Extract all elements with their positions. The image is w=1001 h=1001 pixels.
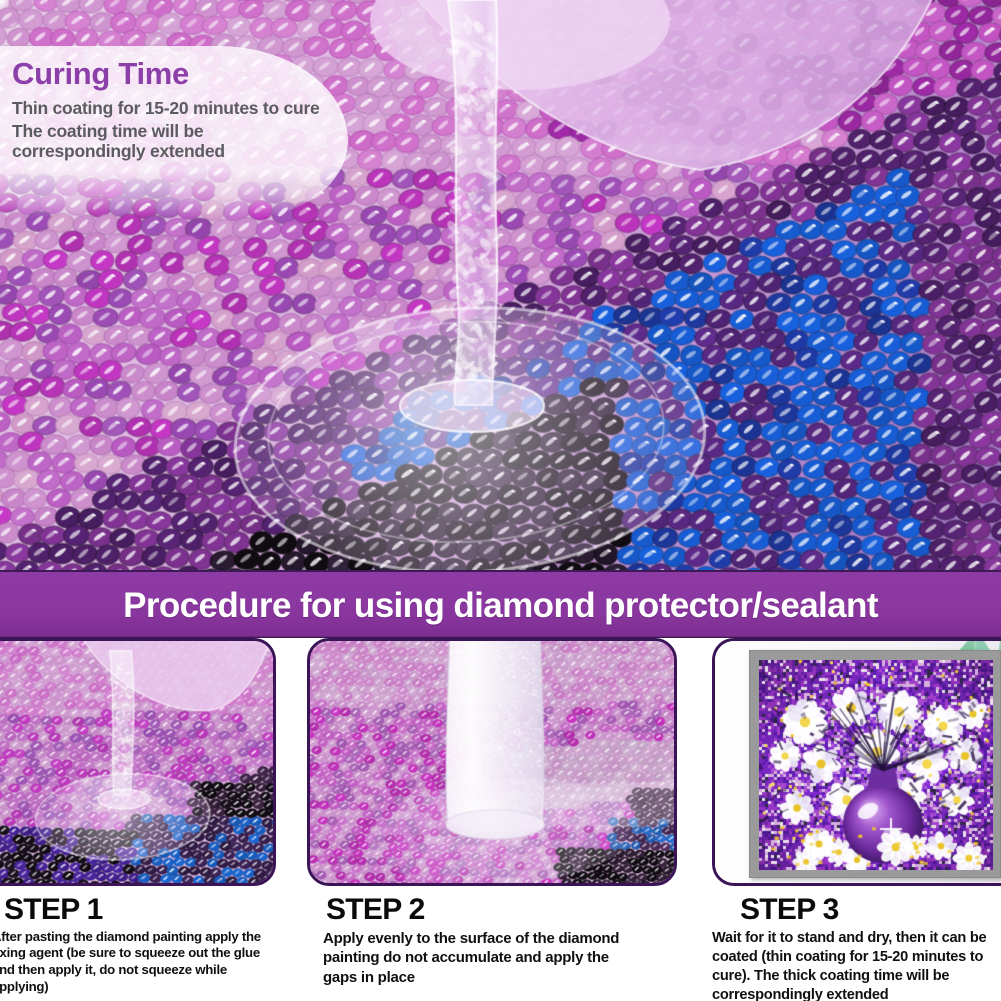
section-banner: Procedure for using diamond protector/se… [0,570,1001,638]
step-2-caption: STEP 2 Apply evenly to the surface of th… [307,886,677,987]
curing-time-content: Curing Time Thin coating for 15-20 minut… [12,58,342,161]
step-3-caption: STEP 3 Wait for it to stand and dry, the… [712,886,1001,1001]
curing-time-line-2: The coating time will be correspondingly… [12,122,327,161]
step-1-photo [0,638,276,886]
curing-time-line-1: Thin coating for 15-20 minutes to cure [12,99,327,119]
step-card-3: STEP 3 Wait for it to stand and dry, the… [712,638,1001,1001]
steps-row: STEP 1 After pasting the diamond paintin… [0,638,1001,1001]
step-1-body: After pasting the diamond painting apply… [0,929,274,997]
step-3-photo [712,638,1001,886]
step-2-body: Apply evenly to the surface of the diamo… [323,929,629,988]
framed-painting-artwork [759,660,993,870]
step-2-label: STEP 2 [326,894,667,926]
step-3-body: Wait for it to stand and dry, then it ca… [712,929,1001,1001]
step-1-caption: STEP 1 After pasting the diamond paintin… [0,886,276,996]
step-card-1: STEP 1 After pasting the diamond paintin… [0,638,276,1001]
banner-title: Procedure for using diamond protector/se… [123,588,878,623]
step-1-image [0,641,273,883]
infographic-page: Curing Time Thin coating for 15-20 minut… [0,0,1001,1001]
step-1-label: STEP 1 [4,894,270,926]
step-2-image [310,641,674,883]
step-card-2: STEP 2 Apply evenly to the surface of th… [307,638,677,1001]
framed-finished-painting [749,650,1001,878]
curing-time-title: Curing Time [12,58,342,91]
hero-image: Curing Time Thin coating for 15-20 minut… [0,0,1001,570]
daisy-vase-artwork [759,660,993,870]
step-2-photo [307,638,677,886]
step-3-label: STEP 3 [740,894,1001,926]
